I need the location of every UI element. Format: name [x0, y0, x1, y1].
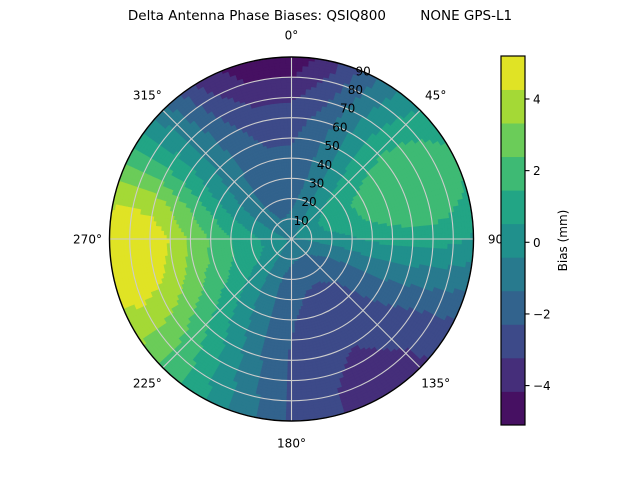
colorbar-band-10: [501, 56, 525, 90]
colorbar-band-0: [501, 391, 525, 425]
zenith-label-80: 80: [348, 83, 363, 97]
azimuth-label-180: 180°: [277, 437, 306, 451]
azimuth-label-135: 135°: [421, 377, 450, 391]
zenith-label-60: 60: [332, 120, 347, 134]
azimuth-label-0: 0°: [285, 29, 299, 43]
colorbar-band-4: [501, 257, 525, 291]
figure-title: Delta Antenna Phase Biases: QSIQ800 NONE…: [0, 8, 640, 24]
colorbar-band-5: [501, 224, 525, 258]
colorbar-tick-label-0: 4: [533, 93, 541, 107]
zenith-label-70: 70: [340, 102, 355, 116]
zenith-label-40: 40: [317, 158, 332, 172]
zenith-label-90: 90: [355, 64, 370, 78]
zenith-label-30: 30: [309, 177, 324, 191]
colorbar-tick-label-4: −4: [533, 379, 551, 393]
colorbar-band-2: [501, 324, 525, 358]
zenith-label-10: 10: [294, 214, 309, 228]
polar-contour-plot: 0°45°90135°180°225°270°315° 102030405060…: [0, 0, 640, 480]
azimuth-label-225: 225°: [133, 377, 162, 391]
colorbar-band-6: [501, 190, 525, 224]
colorbar-band-3: [501, 291, 525, 325]
figure-canvas: Delta Antenna Phase Biases: QSIQ800 NONE…: [0, 0, 640, 480]
polar-grid-layer: [110, 57, 474, 421]
colorbar-tick-label-1: 2: [533, 164, 541, 178]
azimuth-label-315: 315°: [133, 88, 162, 102]
colorbar-axis-label: Bias (mm): [556, 210, 570, 272]
colorbar: 420−2−4Bias (mm): [501, 56, 570, 425]
colorbar-band-7: [501, 157, 525, 191]
azimuth-label-270: 270°: [73, 233, 102, 247]
zenith-label-20: 20: [301, 195, 316, 209]
colorbar-tick-label-2: 0: [533, 236, 541, 250]
zenith-label-50: 50: [325, 139, 340, 153]
colorbar-band-8: [501, 123, 525, 157]
colorbar-tick-label-3: −2: [533, 307, 551, 321]
azimuth-label-45: 45°: [425, 88, 446, 102]
colorbar-band-1: [501, 358, 525, 392]
colorbar-band-9: [501, 90, 525, 124]
